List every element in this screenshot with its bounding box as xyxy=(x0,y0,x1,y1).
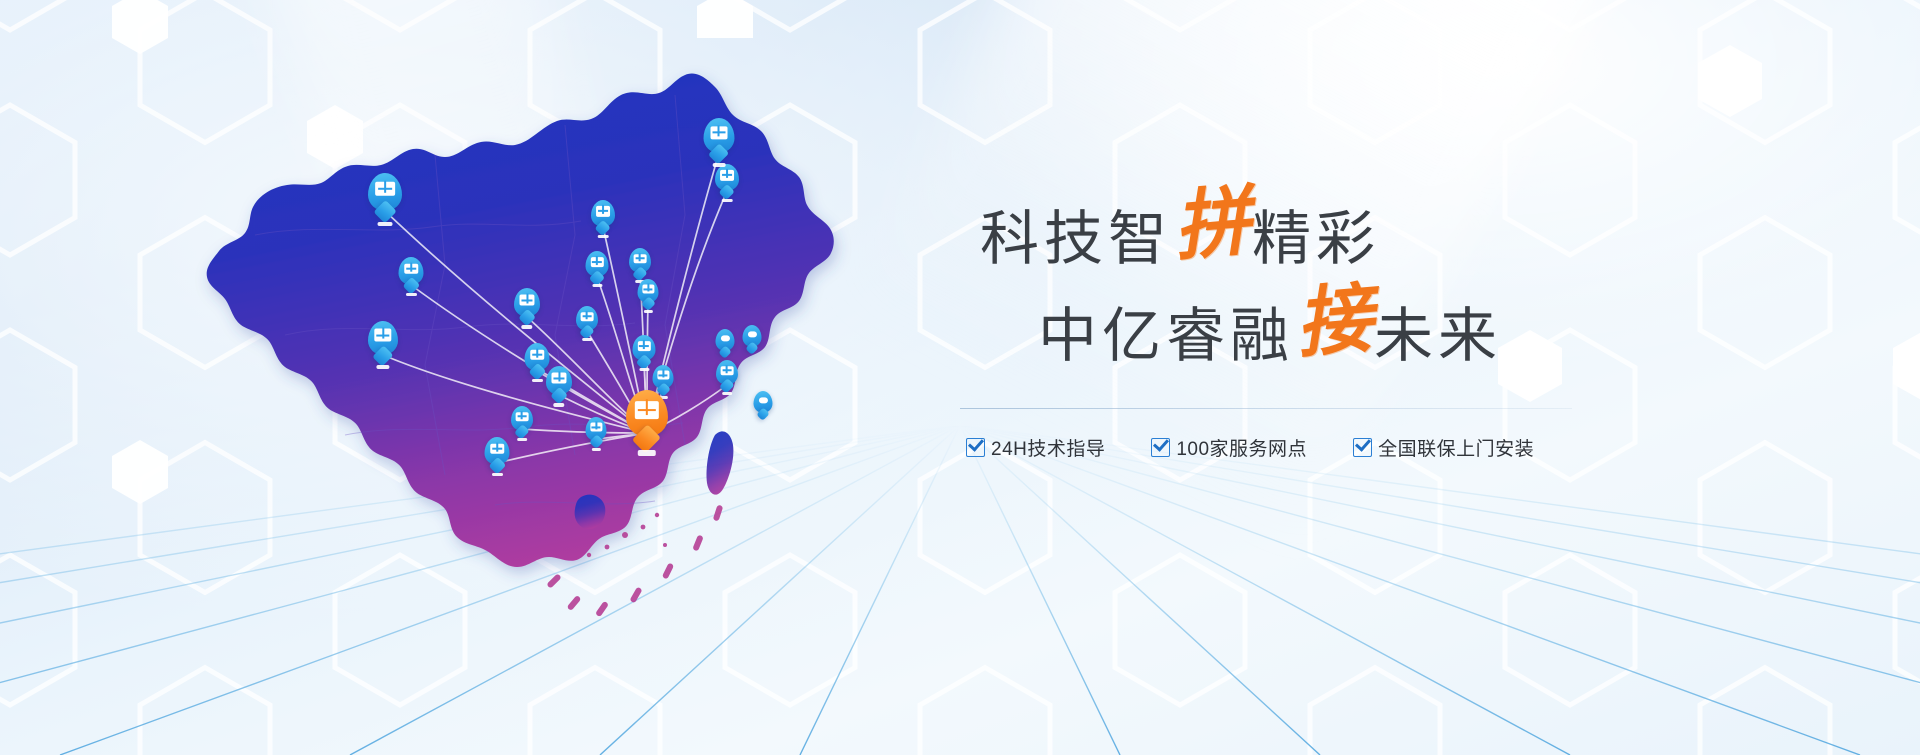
check-box-icon xyxy=(1151,438,1170,457)
divider xyxy=(960,408,1572,409)
feature-item: 全国联保上门安装 xyxy=(1353,434,1534,461)
feature-label: 24H技术指导 xyxy=(991,434,1105,461)
map-marker[interactable] xyxy=(704,118,735,153)
feature-item: 100家服务网点 xyxy=(1151,434,1307,461)
map-marker[interactable] xyxy=(586,251,609,277)
map-marker-sea[interactable] xyxy=(743,325,762,347)
map-marker[interactable] xyxy=(715,164,739,191)
map-marker[interactable] xyxy=(485,437,510,465)
map-marker[interactable] xyxy=(586,417,607,441)
map-marker[interactable] xyxy=(399,257,424,285)
map-marker[interactable] xyxy=(638,279,659,303)
feature-item: 24H技术指导 xyxy=(966,434,1105,461)
feature-label: 全国联保上门安装 xyxy=(1378,434,1534,461)
map-marker[interactable] xyxy=(546,366,572,395)
map-marker-hub[interactable] xyxy=(626,390,668,437)
map-marker[interactable] xyxy=(576,306,598,331)
map-marker-sea[interactable] xyxy=(716,329,735,351)
headline-line-1-post: 精彩 xyxy=(1252,206,1380,272)
map-marker[interactable] xyxy=(629,248,651,273)
feature-label: 100家服务网点 xyxy=(1176,434,1307,461)
headline-block: 科技智拼精彩 中亿睿融接未来 24H技术指导 100家服务网点 全国联保上门安装 xyxy=(960,190,1600,461)
feature-list: 24H技术指导 100家服务网点 全国联保上门安装 xyxy=(960,434,1600,461)
headline-line-2-brush: 接 xyxy=(1292,275,1375,366)
hero-banner: 科技智拼精彩 中亿睿融接未来 24H技术指导 100家服务网点 全国联保上门安装 xyxy=(0,0,1920,755)
map-marker[interactable] xyxy=(514,288,540,317)
check-box-icon xyxy=(1353,438,1372,457)
map-marker[interactable] xyxy=(368,173,402,211)
map-markers-layer xyxy=(195,35,895,635)
china-map xyxy=(195,35,895,635)
map-marker[interactable] xyxy=(653,365,674,389)
map-marker-sea[interactable] xyxy=(754,391,773,413)
headline-line-2: 中亿睿融接未来 xyxy=(960,287,1600,372)
headline-line-2-post: 未来 xyxy=(1374,303,1502,369)
map-marker[interactable] xyxy=(511,406,533,431)
headline-line-1-brush: 拼 xyxy=(1170,178,1253,269)
headline-line-1-pre: 科技智 xyxy=(980,206,1172,272)
map-marker[interactable] xyxy=(591,200,615,227)
headline-line-1: 科技智拼精彩 xyxy=(960,190,1600,275)
map-marker[interactable] xyxy=(368,321,398,355)
check-box-icon xyxy=(966,438,985,457)
headline-line-2-pre: 中亿睿融 xyxy=(1038,303,1294,369)
map-marker[interactable] xyxy=(633,335,656,361)
map-marker[interactable] xyxy=(716,360,738,385)
